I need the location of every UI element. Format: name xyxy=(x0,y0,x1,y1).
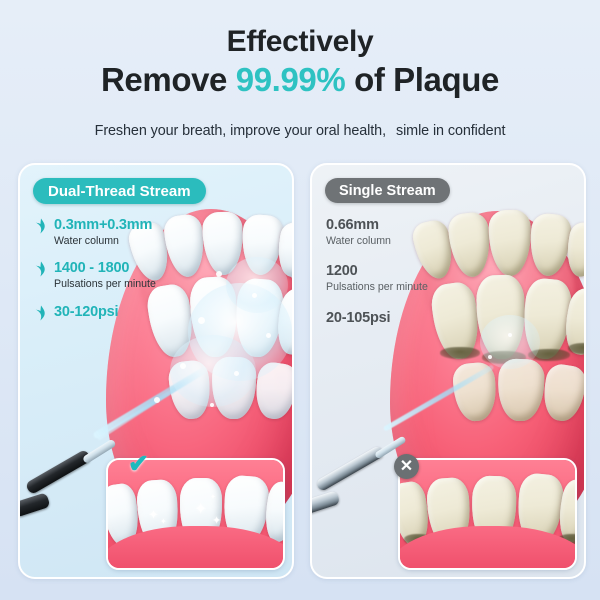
flosser-wand-handle xyxy=(310,490,340,514)
water-droplet xyxy=(266,333,271,338)
spec-value: 1400 - 1800 xyxy=(54,260,156,277)
water-droplet xyxy=(210,403,214,407)
arrow-up-icon xyxy=(34,305,48,321)
subtitle-part-b: simle in confident xyxy=(396,123,505,139)
subtitle: Freshen your breath, improve your oral h… xyxy=(0,123,600,139)
inset-plaque-teeth xyxy=(398,458,577,570)
flosser-wand-body xyxy=(25,449,92,495)
headline-remove-text: Remove xyxy=(101,61,236,98)
water-droplet xyxy=(488,355,492,359)
badge-label: Single Stream xyxy=(339,183,436,199)
sparkle-icon: ✦ xyxy=(194,502,207,518)
spec-item: 20-105psi xyxy=(326,310,428,327)
water-droplet xyxy=(234,371,239,376)
spec-unit: Pulsations per minute xyxy=(326,281,428,294)
spec-list-single-stream: 0.66mm Water column 1200 Pulsations per … xyxy=(326,217,428,339)
headline-plaque-text: of Plaque xyxy=(345,61,499,98)
flosser-wand-handle xyxy=(18,492,51,517)
arrow-up-icon xyxy=(34,218,48,234)
spec-list-dual-thread: 0.3mm+0.3mm Water column 1400 - 1800 Pul… xyxy=(34,217,156,333)
spec-item: 1400 - 1800 Pulsations per minute xyxy=(34,260,156,290)
sparkle-icon: ✦ xyxy=(160,518,167,526)
badge-label: Dual-Thread Stream xyxy=(48,183,191,200)
water-droplet xyxy=(180,363,186,369)
plaque-deposit xyxy=(440,347,480,359)
comparison-panel-single-stream: Single Stream 0.66mm Water column 1200 P… xyxy=(310,163,586,579)
spec-value: 0.3mm+0.3mm xyxy=(54,217,156,234)
water-droplet xyxy=(216,271,222,277)
headline-line-2: Remove 99.99% of Plaque xyxy=(0,62,600,98)
water-droplet xyxy=(508,333,512,337)
cross-icon: ✕ xyxy=(394,454,419,479)
badge-single-stream: Single Stream xyxy=(325,178,450,203)
sparkle-icon: ✦ xyxy=(212,516,221,527)
water-droplet xyxy=(154,397,160,403)
spec-value: 30-120psi xyxy=(54,304,156,321)
check-icon: ✔ xyxy=(128,452,149,477)
water-spray-burst xyxy=(170,335,256,407)
headline-percentage: 99.99% xyxy=(236,61,346,98)
spec-unit: Water column xyxy=(326,235,428,248)
spec-value: 0.66mm xyxy=(326,217,428,234)
water-spray-burst xyxy=(226,257,288,313)
spec-unit: Water column xyxy=(54,235,156,248)
badge-dual-thread-stream: Dual-Thread Stream xyxy=(33,178,206,204)
plaque-teeth-photo xyxy=(400,460,575,568)
headline-line-1: Effectively xyxy=(0,26,600,58)
spec-item: 0.3mm+0.3mm Water column xyxy=(34,217,156,247)
subtitle-part-a: Freshen your breath, improve your oral h… xyxy=(95,123,386,139)
spec-value: 1200 xyxy=(326,263,428,280)
flosser-wand-body xyxy=(315,445,385,492)
spec-item: 30-120psi xyxy=(34,304,156,321)
sparkle-icon: ✦ xyxy=(148,508,159,521)
plaque-deposit xyxy=(568,343,586,354)
spec-unit: Pulsations per minute xyxy=(54,278,156,291)
water-spray-burst xyxy=(480,315,540,369)
spec-item: 0.66mm Water column xyxy=(326,217,428,247)
spec-value: 20-105psi xyxy=(326,310,428,327)
comparison-panel-dual-thread: Dual-Thread Stream 0.3mm+0.3mm Water col… xyxy=(18,163,294,579)
infographic-canvas: Effectively Remove 99.99% of Plaque Fres… xyxy=(0,0,600,600)
arrow-up-icon xyxy=(34,261,48,277)
water-droplet xyxy=(198,317,205,324)
water-droplet xyxy=(252,293,257,298)
spec-item: 1200 Pulsations per minute xyxy=(326,263,428,293)
sparkle-icon: ✦ xyxy=(210,494,216,501)
